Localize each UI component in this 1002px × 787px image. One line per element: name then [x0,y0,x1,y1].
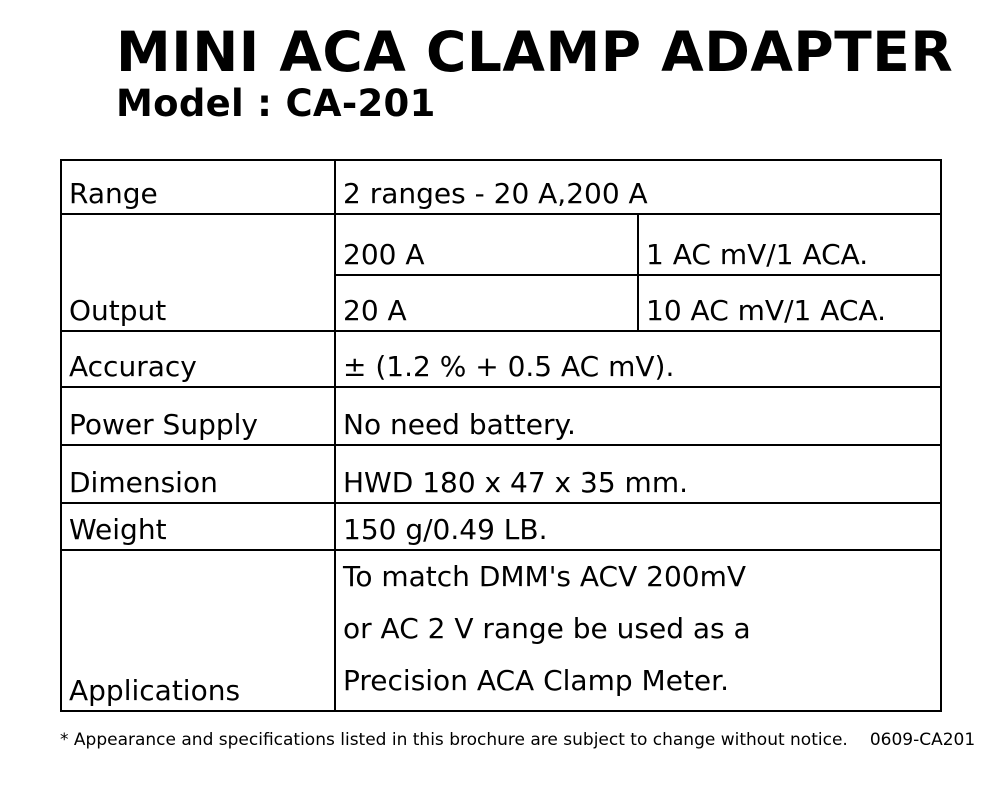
row-value-range: 2 ranges - 20 A,200 A [335,160,941,214]
row-sublabel-output-20a: 20 A [335,275,638,331]
table-row-range: Range 2 ranges - 20 A,200 A [61,160,941,214]
row-sublabel-output-200a: 200 A [335,214,638,275]
row-subvalue-output-200a: 1 AC mV/1 ACA. [638,214,941,275]
table-row-dimension: Dimension HWD 180 x 47 x 35 mm. [61,445,941,503]
table-row-output-200a: Output 200 A 1 AC mV/1 ACA. [61,214,941,275]
page-title: MINI ACA CLAMP ADAPTER [116,22,976,82]
row-label-applications: Applications [61,550,335,711]
row-value-accuracy: ± (1.2 % + 0.5 AC mV). [335,331,941,387]
table-row-accuracy: Accuracy ± (1.2 % + 0.5 AC mV). [61,331,941,387]
table-row-applications: Applications To match DMM's ACV 200mV or… [61,550,941,711]
disclaimer-text: * Appearance and specifications listed i… [60,730,848,750]
applications-line-2: or AC 2 V range be used as a [343,603,940,655]
row-label-range: Range [61,160,335,214]
applications-line-3: Precision ACA Clamp Meter. [343,655,940,707]
footer-note: * Appearance and specifications listed i… [60,729,950,751]
row-value-power-supply: No need battery. [335,387,941,445]
spec-table-container: Range 2 ranges - 20 A,200 A Output 200 A… [60,159,942,712]
document-code: 0609-CA201 [870,730,975,750]
model-line: Model : CA-201 [116,82,976,126]
table-row-weight: Weight 150 g/0.49 LB. [61,503,941,550]
row-label-power-supply: Power Supply [61,387,335,445]
row-label-output: Output [61,214,335,331]
applications-line-1: To match DMM's ACV 200mV [343,551,940,603]
row-subvalue-output-20a: 10 AC mV/1 ACA. [638,275,941,331]
row-value-weight: 150 g/0.49 LB. [335,503,941,550]
specifications-table: Range 2 ranges - 20 A,200 A Output 200 A… [60,159,942,712]
row-label-weight: Weight [61,503,335,550]
table-row-power-supply: Power Supply No need battery. [61,387,941,445]
row-label-accuracy: Accuracy [61,331,335,387]
row-label-dimension: Dimension [61,445,335,503]
row-value-dimension: HWD 180 x 47 x 35 mm. [335,445,941,503]
row-value-applications: To match DMM's ACV 200mV or AC 2 V range… [335,550,941,711]
page-header: MINI ACA CLAMP ADAPTER Model : CA-201 [116,22,976,126]
